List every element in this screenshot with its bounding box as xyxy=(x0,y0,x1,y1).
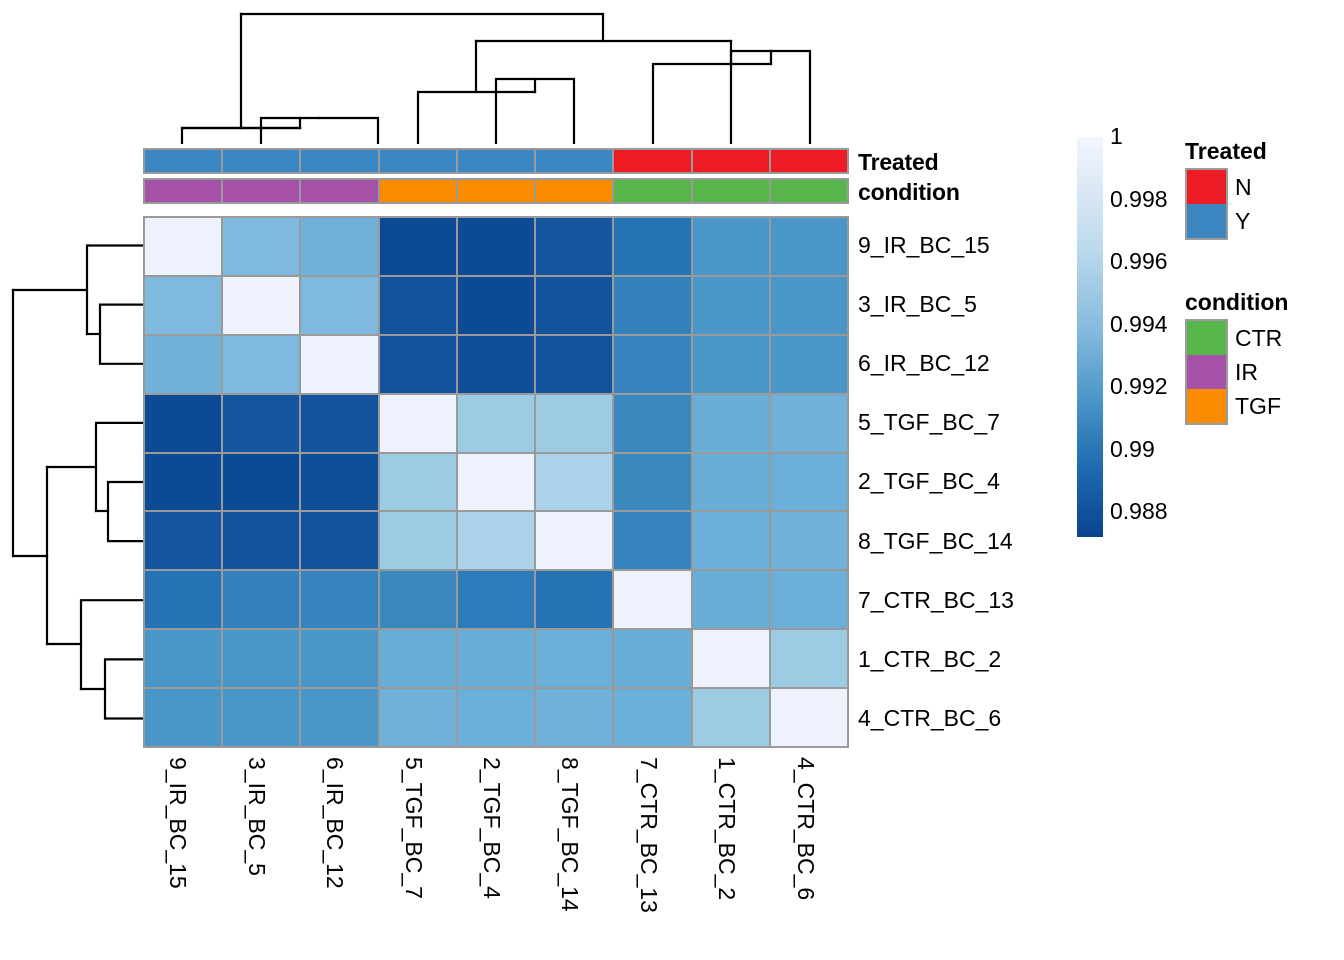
colorbar-tick-label: 0.994 xyxy=(1110,311,1168,338)
annotation-cell-treated[interactable] xyxy=(458,150,534,172)
legend-swatches-condition xyxy=(1185,319,1228,425)
column-label: 1_CTR_BC_2 xyxy=(713,757,740,900)
clustered-heatmap-figure: Treated condition 9_IR_BC_153_IR_BC_56_I… xyxy=(0,0,1344,960)
row-label: 2_TGF_BC_4 xyxy=(858,452,1000,511)
annotation-cell-treated[interactable] xyxy=(536,150,612,172)
column-label: 5_TGF_BC_7 xyxy=(400,757,427,899)
column-label: 7_CTR_BC_13 xyxy=(635,757,662,913)
legend-condition-label: CTR xyxy=(1235,321,1282,355)
row-label: 3_IR_BC_5 xyxy=(858,275,977,334)
heatmap-cell[interactable] xyxy=(223,571,299,628)
heatmap-cell[interactable] xyxy=(614,512,690,569)
heatmap-cell[interactable] xyxy=(301,512,377,569)
heatmap-cell[interactable] xyxy=(693,336,769,393)
heatmap-cell[interactable] xyxy=(458,689,534,746)
row-label: 5_TGF_BC_7 xyxy=(858,393,1000,452)
heatmap-cell[interactable] xyxy=(614,395,690,452)
heatmap-cell[interactable] xyxy=(380,571,456,628)
column-label: 2_TGF_BC_4 xyxy=(478,757,505,899)
heatmap-cell[interactable] xyxy=(145,571,221,628)
heatmap-cell[interactable] xyxy=(771,571,847,628)
annotation-bar-condition xyxy=(143,178,849,204)
annotation-cell-condition[interactable] xyxy=(458,180,534,202)
column-dendrogram-overlay xyxy=(143,6,849,144)
heatmap-cell[interactable] xyxy=(771,336,847,393)
heatmap-cell[interactable] xyxy=(614,454,690,511)
heatmap-cell[interactable] xyxy=(536,630,612,687)
heatmap-cell[interactable] xyxy=(301,277,377,334)
column-label: 6_IR_BC_12 xyxy=(321,757,348,889)
legend-treated-label: N xyxy=(1235,170,1252,204)
heatmap-cell[interactable] xyxy=(458,218,534,275)
heatmap-cell[interactable] xyxy=(693,571,769,628)
legend-treated-label: Y xyxy=(1235,204,1250,238)
heatmap-cell[interactable] xyxy=(536,512,612,569)
heatmap-cell[interactable] xyxy=(380,336,456,393)
heatmap-cell[interactable] xyxy=(771,630,847,687)
heatmap-cell[interactable] xyxy=(536,571,612,628)
legend-condition-swatch[interactable] xyxy=(1187,355,1226,389)
heatmap-cell[interactable] xyxy=(301,454,377,511)
heatmap-cell[interactable] xyxy=(771,689,847,746)
heatmap-cell[interactable] xyxy=(771,512,847,569)
heatmap-cell[interactable] xyxy=(223,336,299,393)
heatmap-cell[interactable] xyxy=(223,689,299,746)
heatmap-cell[interactable] xyxy=(145,336,221,393)
heatmap-cell[interactable] xyxy=(614,218,690,275)
heatmap-cell[interactable] xyxy=(301,395,377,452)
heatmap-cell[interactable] xyxy=(536,218,612,275)
heatmap-cell[interactable] xyxy=(693,454,769,511)
annotation-label-condition: condition xyxy=(858,179,960,205)
heatmap-cell[interactable] xyxy=(614,689,690,746)
heatmap-cell[interactable] xyxy=(380,512,456,569)
legend-condition-swatch[interactable] xyxy=(1187,389,1226,423)
heatmap-cell[interactable] xyxy=(458,571,534,628)
heatmap-cell[interactable] xyxy=(380,277,456,334)
heatmap-cell[interactable] xyxy=(223,218,299,275)
heatmap-cell[interactable] xyxy=(145,512,221,569)
annotation-cell-treated[interactable] xyxy=(614,150,690,172)
annotation-cell-treated[interactable] xyxy=(301,150,377,172)
row-label: 7_CTR_BC_13 xyxy=(858,571,1014,630)
colorbar-gradient xyxy=(1077,137,1103,537)
heatmap-cell[interactable] xyxy=(301,689,377,746)
annotation-cell-condition[interactable] xyxy=(145,180,221,202)
heatmap-cell[interactable] xyxy=(536,277,612,334)
row-label: 4_CTR_BC_6 xyxy=(858,689,1001,748)
heatmap-cell[interactable] xyxy=(536,395,612,452)
row-label: 1_CTR_BC_2 xyxy=(858,630,1001,689)
column-label: 4_CTR_BC_6 xyxy=(792,757,819,900)
heatmap-cell[interactable] xyxy=(693,630,769,687)
annotation-cell-treated[interactable] xyxy=(771,150,847,172)
annotation-cell-condition[interactable] xyxy=(614,180,690,202)
annotation-bar-treated xyxy=(143,148,849,174)
annotation-label-treated: Treated xyxy=(858,149,938,175)
legend-swatches-treated xyxy=(1185,168,1228,240)
heatmap-cell[interactable] xyxy=(380,630,456,687)
annotation-cell-condition[interactable] xyxy=(536,180,612,202)
column-label: 3_IR_BC_5 xyxy=(243,757,270,876)
heatmap-cell[interactable] xyxy=(458,454,534,511)
heatmap-cell[interactable] xyxy=(614,336,690,393)
row-label: 6_IR_BC_12 xyxy=(858,334,990,393)
annotation-cell-condition[interactable] xyxy=(301,180,377,202)
heatmap-cell[interactable] xyxy=(536,336,612,393)
annotation-cell-condition[interactable] xyxy=(693,180,769,202)
annotation-cell-condition[interactable] xyxy=(223,180,299,202)
annotation-cell-condition[interactable] xyxy=(380,180,456,202)
heatmap-cell[interactable] xyxy=(380,395,456,452)
heatmap-cell[interactable] xyxy=(458,630,534,687)
legend-condition-label: TGF xyxy=(1235,389,1281,423)
heatmap-cell[interactable] xyxy=(536,454,612,511)
heatmap-cell[interactable] xyxy=(771,277,847,334)
heatmap-cell[interactable] xyxy=(458,277,534,334)
colorbar-tick-label: 0.992 xyxy=(1110,373,1168,400)
heatmap-cell[interactable] xyxy=(693,395,769,452)
heatmap-cell[interactable] xyxy=(771,395,847,452)
heatmap-cell[interactable] xyxy=(301,571,377,628)
heatmap-cell[interactable] xyxy=(223,277,299,334)
legend-title-treated: Treated xyxy=(1185,138,1267,165)
heatmap-cell[interactable] xyxy=(145,630,221,687)
legend-treated-swatch[interactable] xyxy=(1187,204,1226,238)
heatmap-cell[interactable] xyxy=(614,630,690,687)
heatmap-cell[interactable] xyxy=(693,218,769,275)
heatmap-cell[interactable] xyxy=(771,218,847,275)
column-label: 9_IR_BC_15 xyxy=(164,757,191,889)
heatmap-cell[interactable] xyxy=(458,336,534,393)
heatmap-cell[interactable] xyxy=(693,277,769,334)
heatmap-cell[interactable] xyxy=(223,630,299,687)
annotation-cell-treated[interactable] xyxy=(145,150,221,172)
heatmap-cell[interactable] xyxy=(145,277,221,334)
annotation-cell-treated[interactable] xyxy=(380,150,456,172)
legend-condition-swatch[interactable] xyxy=(1187,321,1226,355)
heatmap-cell[interactable] xyxy=(380,218,456,275)
heatmap-cell[interactable] xyxy=(380,689,456,746)
heatmap-cell[interactable] xyxy=(380,454,456,511)
heatmap-cell[interactable] xyxy=(771,454,847,511)
heatmap-matrix[interactable] xyxy=(143,216,849,748)
heatmap-cell[interactable] xyxy=(693,689,769,746)
heatmap-cell[interactable] xyxy=(145,218,221,275)
heatmap-cell[interactable] xyxy=(301,630,377,687)
heatmap-cell[interactable] xyxy=(223,454,299,511)
heatmap-cell[interactable] xyxy=(301,218,377,275)
legend-title-condition: condition xyxy=(1185,289,1288,316)
row-label: 8_TGF_BC_14 xyxy=(858,512,1013,571)
column-label: 8_TGF_BC_14 xyxy=(556,757,583,912)
heatmap-cell[interactable] xyxy=(223,512,299,569)
heatmap-cell[interactable] xyxy=(145,395,221,452)
heatmap-cell[interactable] xyxy=(458,395,534,452)
colorbar-tick-label: 0.99 xyxy=(1110,436,1155,463)
colorbar-tick-label: 1 xyxy=(1110,123,1123,150)
heatmap-cell[interactable] xyxy=(614,571,690,628)
row-label: 9_IR_BC_15 xyxy=(858,216,990,275)
heatmap-cell[interactable] xyxy=(301,336,377,393)
annotation-cell-condition[interactable] xyxy=(771,180,847,202)
heatmap-cell[interactable] xyxy=(223,395,299,452)
heatmap-cell[interactable] xyxy=(693,512,769,569)
heatmap-cell[interactable] xyxy=(536,689,612,746)
legend-treated-swatch[interactable] xyxy=(1187,170,1226,204)
colorbar-tick-label: 0.998 xyxy=(1110,186,1168,213)
colorbar-tick-label: 0.988 xyxy=(1110,498,1168,525)
heatmap-cell[interactable] xyxy=(145,689,221,746)
heatmap-cell[interactable] xyxy=(458,512,534,569)
colorbar-tick-label: 0.996 xyxy=(1110,248,1168,275)
annotation-cell-treated[interactable] xyxy=(223,150,299,172)
legend-condition-label: IR xyxy=(1235,355,1258,389)
annotation-cell-treated[interactable] xyxy=(693,150,769,172)
row-dendrogram xyxy=(4,216,143,748)
heatmap-cell[interactable] xyxy=(614,277,690,334)
heatmap-cell[interactable] xyxy=(145,454,221,511)
